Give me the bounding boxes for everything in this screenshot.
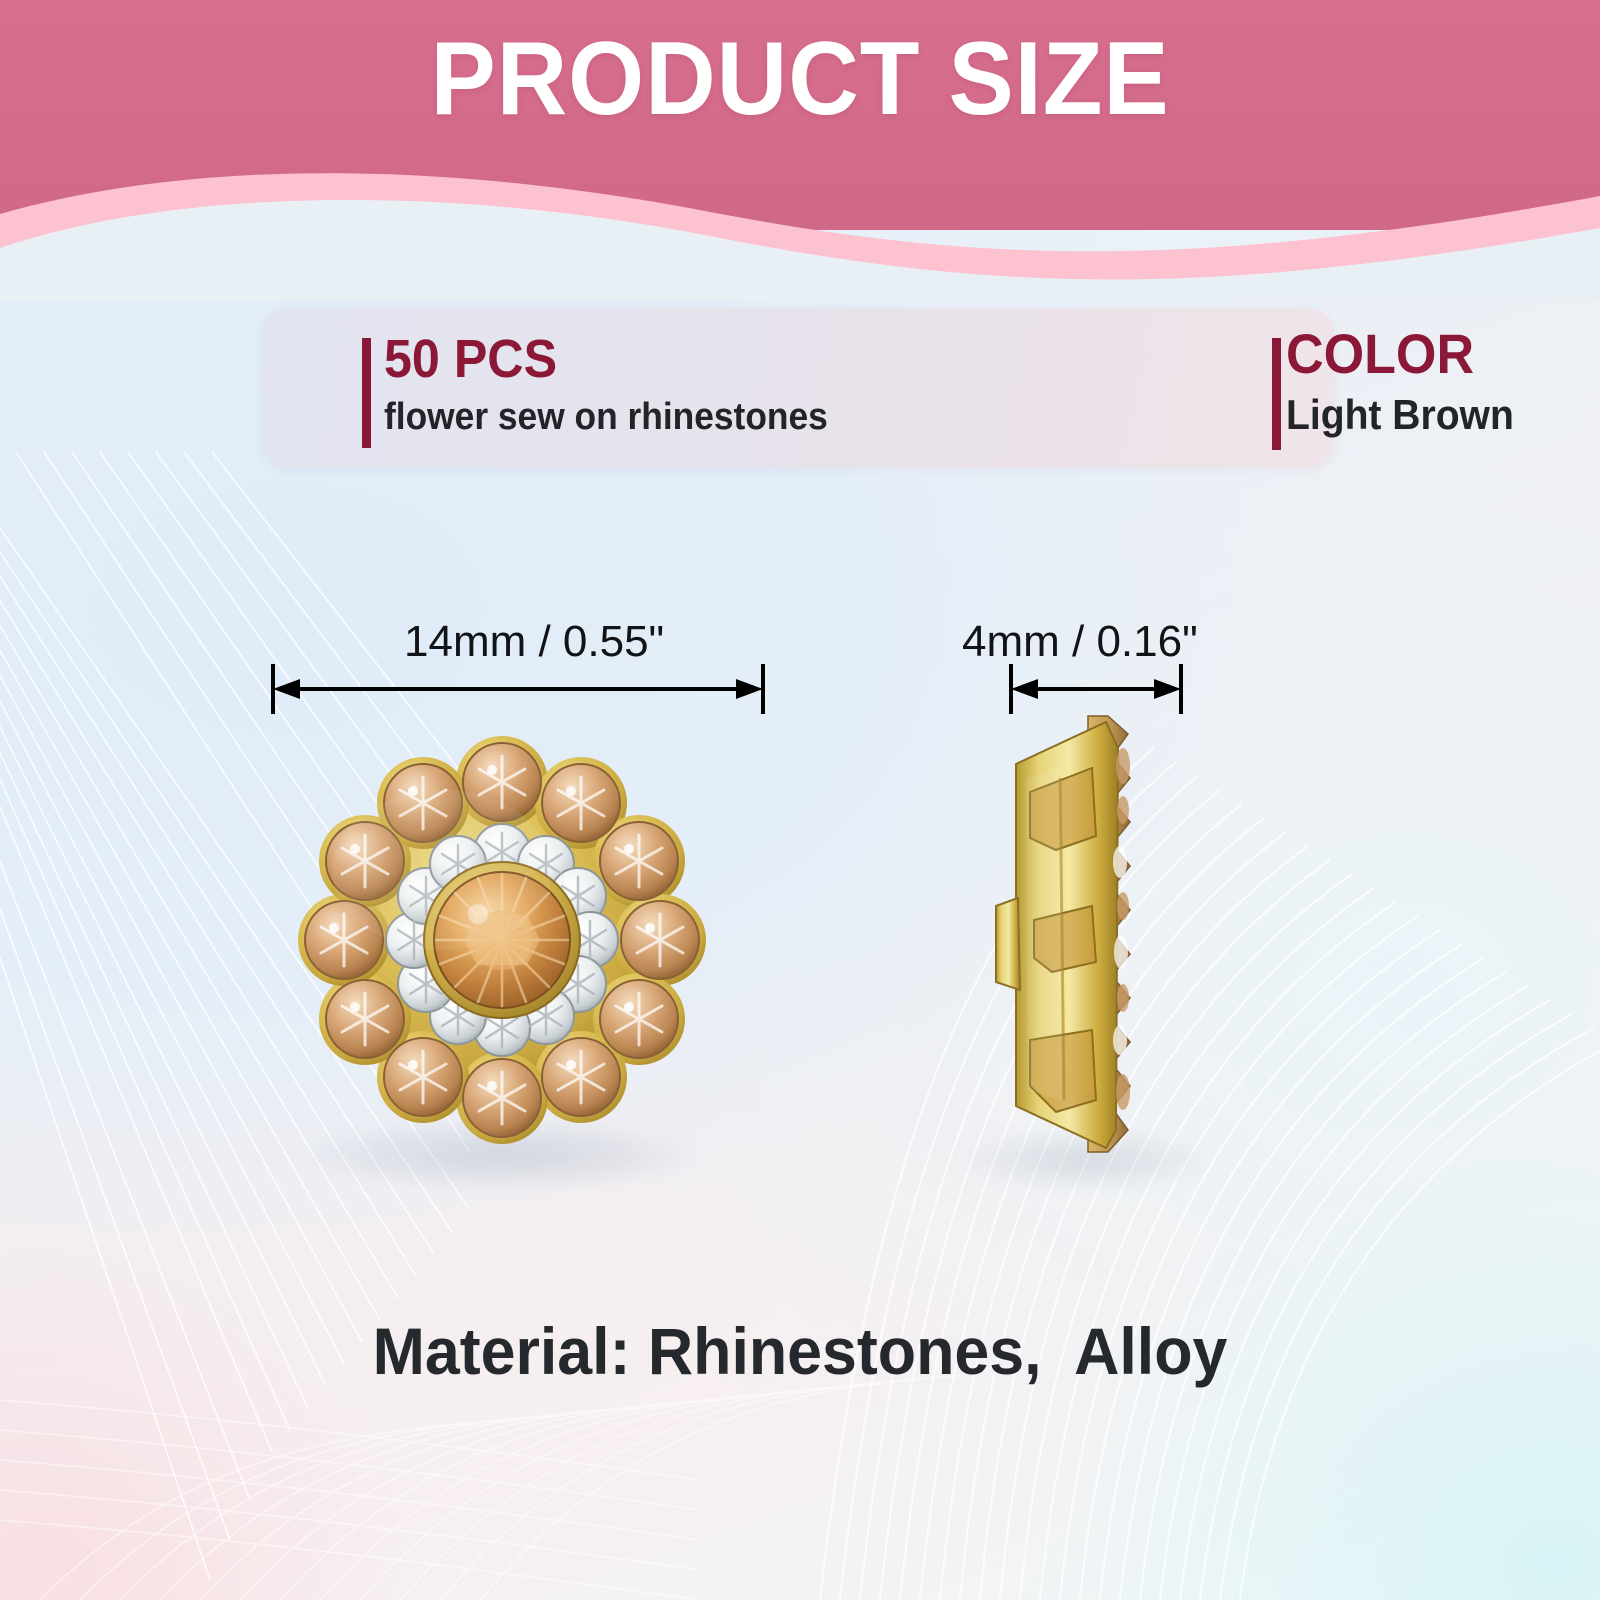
product-side-view xyxy=(960,700,1200,1170)
accent-bar-quantity xyxy=(362,338,371,448)
dimension-thickness-label: 4mm / 0.16" xyxy=(962,620,1198,664)
page-title: PRODUCT SIZE xyxy=(48,26,1552,132)
header: PRODUCT SIZE xyxy=(0,0,1600,300)
background-cyan-wash xyxy=(840,980,1600,1600)
color-value: Light Brown xyxy=(1286,394,1514,436)
quantity-subtitle: flower sew on rhinestones xyxy=(384,398,828,436)
product-size-infographic: PRODUCT SIZE 50 PCS flower sew on rhines… xyxy=(0,0,1600,1600)
product-info-badge: 50 PCS flower sew on rhinestones COLOR L… xyxy=(262,308,1335,468)
dimension-width-label: 14mm / 0.55" xyxy=(404,620,664,664)
color-title: COLOR xyxy=(1286,326,1474,382)
quantity-title: 50 PCS xyxy=(384,332,557,386)
material-label: Material: Rhinestones, Alloy xyxy=(40,1318,1560,1384)
product-front-view xyxy=(272,710,732,1170)
accent-bar-color xyxy=(1272,338,1281,450)
